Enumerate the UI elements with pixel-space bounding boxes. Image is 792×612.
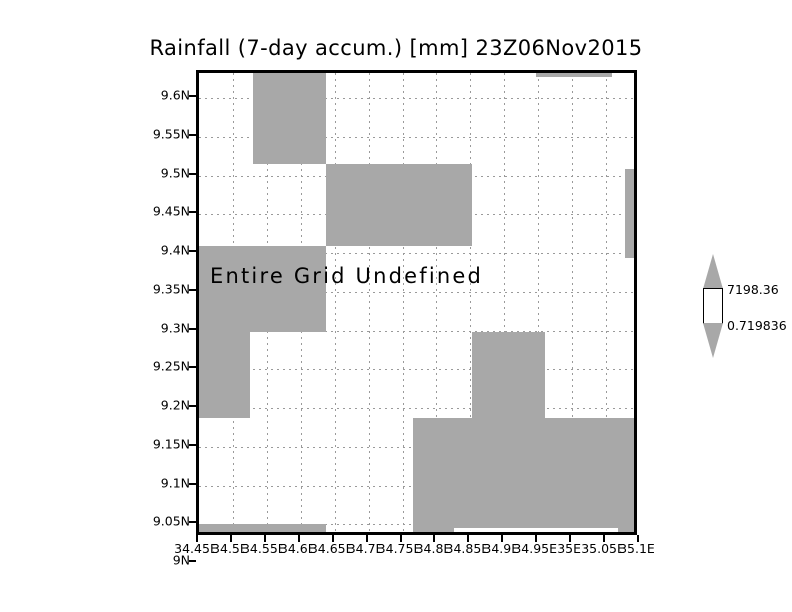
gridline-vertical bbox=[369, 73, 370, 535]
y-axis-tick-label: 9.5N bbox=[161, 165, 190, 180]
y-axis-tick-label: 9.35N bbox=[153, 281, 190, 296]
undefined-patch-bottom-left-strip bbox=[199, 524, 326, 535]
y-axis-tick bbox=[189, 560, 196, 562]
undefined-patch-bottom-notch-white bbox=[454, 528, 618, 535]
undefined-patch-mid-left-wide-block bbox=[199, 246, 326, 332]
colorbar-low-value-label: 0.719836 bbox=[727, 318, 787, 333]
y-axis-tick-label: 9.3N bbox=[161, 320, 190, 335]
gridline-vertical bbox=[403, 73, 404, 535]
gridline-horizontal bbox=[199, 369, 637, 370]
y-axis-tick-label: 9.1N bbox=[161, 475, 190, 490]
y-axis-tick-label: 9.25N bbox=[153, 359, 190, 374]
colorbar-lower-arrow-icon bbox=[703, 323, 723, 358]
gridline-vertical bbox=[335, 73, 336, 535]
y-axis-tick-label: 9.15N bbox=[153, 436, 190, 451]
colorbar-body bbox=[703, 288, 723, 324]
undefined-patch-mid-left-narrow bbox=[199, 332, 250, 418]
page-title: Rainfall (7-day accum.) [mm] 23Z06Nov201… bbox=[0, 36, 792, 60]
y-axis-tick bbox=[189, 405, 196, 407]
y-axis-tick-label: 9.55N bbox=[153, 126, 190, 141]
y-axis-tick bbox=[189, 211, 196, 213]
gridline-horizontal bbox=[199, 408, 637, 409]
y-axis-tick-label: 9.05N bbox=[153, 514, 190, 529]
colorbar-upper-arrow-icon bbox=[703, 254, 723, 289]
undefined-patch-top-left-block bbox=[253, 73, 326, 164]
x-axis-tick-label: 34.95E bbox=[513, 541, 557, 556]
y-axis-tick bbox=[189, 328, 196, 330]
entire-grid-undefined-message: Entire Grid Undefined bbox=[210, 264, 483, 288]
y-axis-labels: 9.6N9.55N9.5N9.45N9.4N9.35N9.3N9.25N9.2N… bbox=[96, 70, 190, 535]
y-axis-tick bbox=[189, 366, 196, 368]
y-axis-tick-label: 9.4N bbox=[161, 243, 190, 258]
y-axis-tick bbox=[189, 521, 196, 523]
plot-area[interactable] bbox=[196, 70, 637, 535]
undefined-patch-right-edge-strip bbox=[625, 169, 637, 258]
colorbar-legend[interactable]: 7198.36 0.719836 bbox=[698, 252, 788, 368]
y-axis-tick-label: 9.2N bbox=[161, 398, 190, 413]
undefined-patch-top-right-strip bbox=[536, 73, 612, 77]
y-axis-tick bbox=[189, 95, 196, 97]
y-axis-tick-label: 9.6N bbox=[161, 88, 190, 103]
y-axis-tick bbox=[189, 483, 196, 485]
undefined-patch-lower-mid-block bbox=[472, 332, 545, 418]
y-axis-tick bbox=[189, 134, 196, 136]
x-axis-tick-label: 35E bbox=[557, 541, 581, 556]
y-axis-tick bbox=[189, 289, 196, 291]
y-axis-tick bbox=[189, 173, 196, 175]
x-axis-labels: 34.45E34.5E34.55E34.6E34.65E34.7E34.75E3… bbox=[196, 541, 637, 561]
y-axis-tick bbox=[189, 444, 196, 446]
plot-canvas bbox=[199, 73, 637, 535]
undefined-patch-upper-mid-block bbox=[326, 164, 472, 246]
y-axis-tick-label: 9.45N bbox=[153, 204, 190, 219]
undefined-patch-bottom-wide-block bbox=[413, 418, 637, 535]
y-axis-tick bbox=[189, 250, 196, 252]
x-axis-tick-label: 35.1E bbox=[619, 541, 655, 556]
colorbar-high-value-label: 7198.36 bbox=[727, 282, 779, 297]
